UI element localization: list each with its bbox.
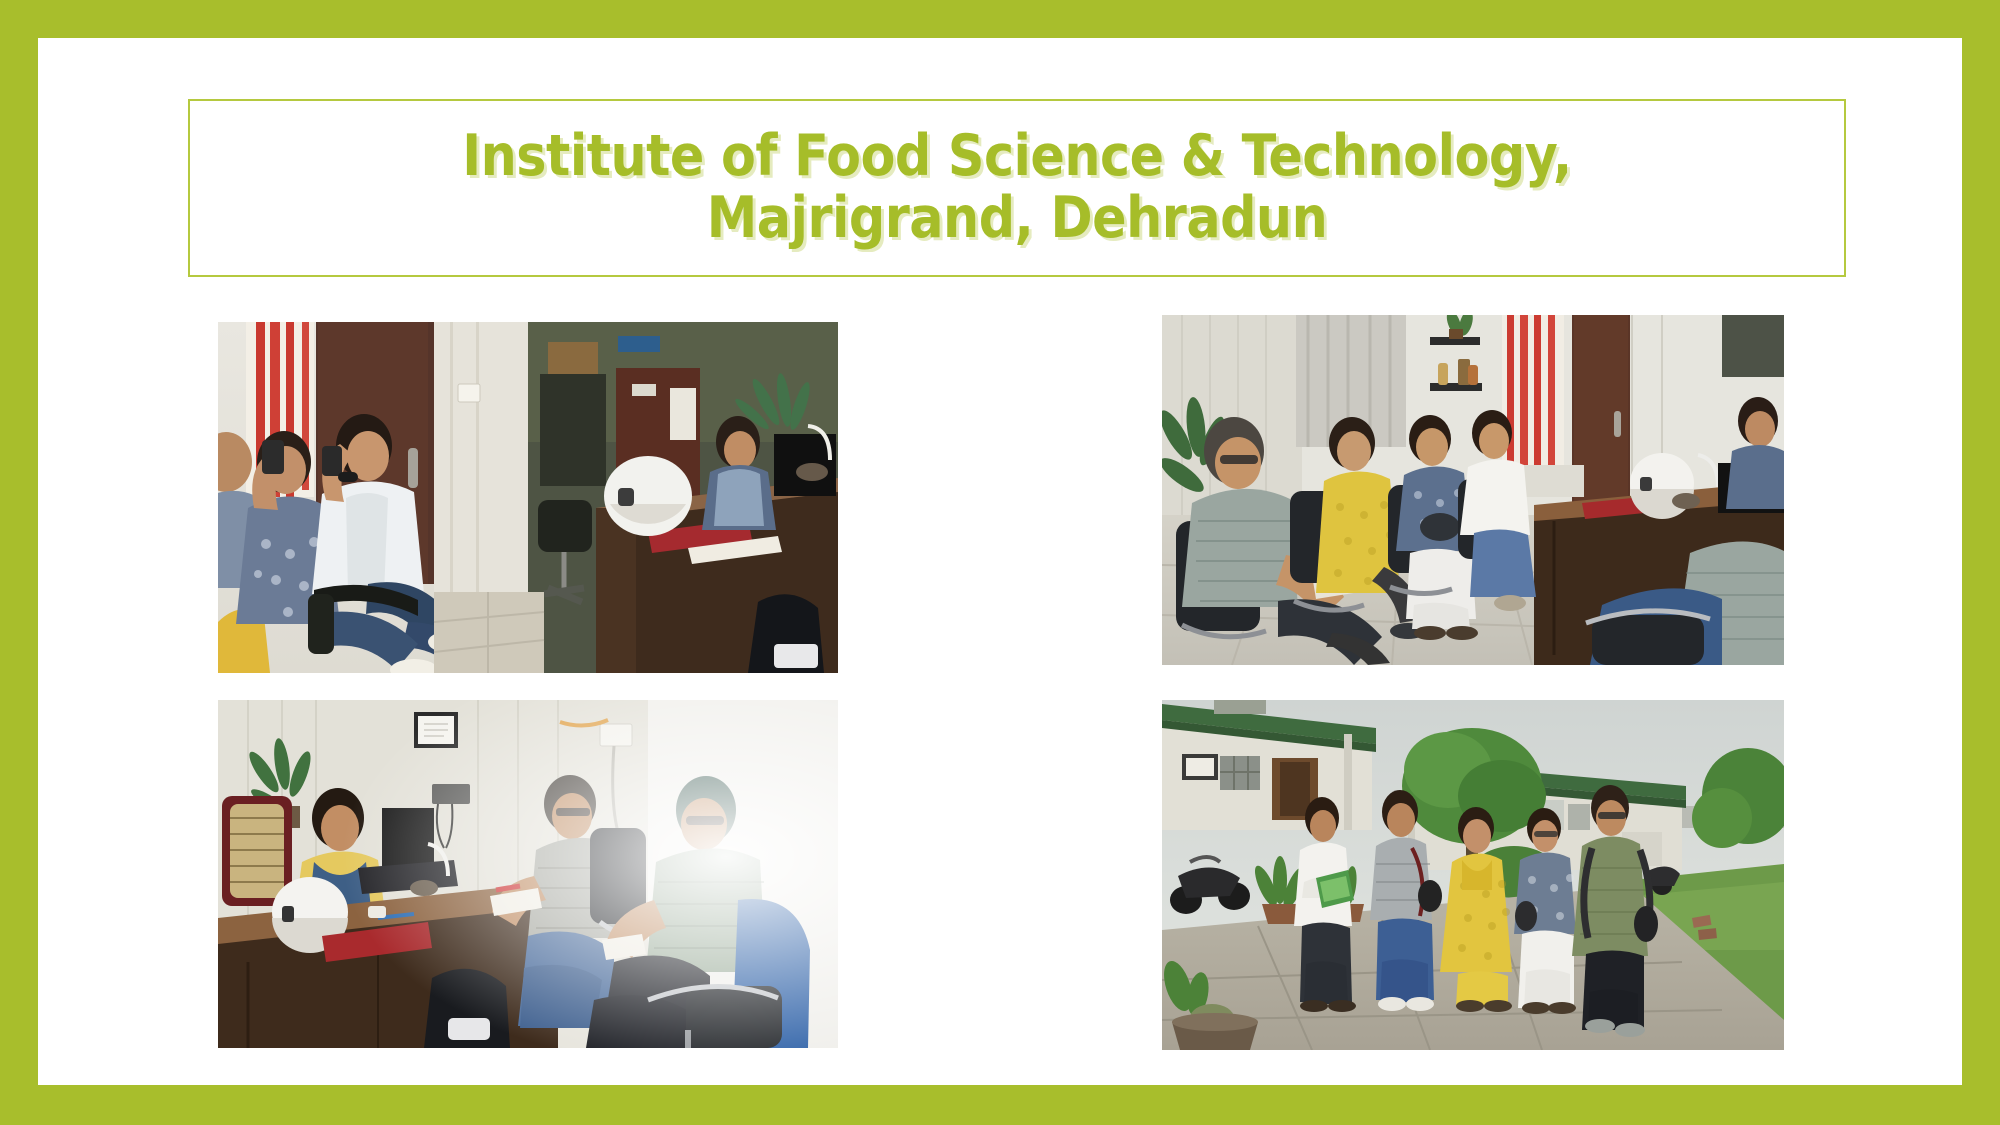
- page-title: Institute of Food Science & Technology, …: [198, 126, 1835, 249]
- slide-frame: Institute of Food Science & Technology, …: [0, 0, 2000, 1125]
- photo-office-visitors: [218, 322, 838, 673]
- photo-group-meeting: [1162, 315, 1784, 665]
- photo-1-illustration: [218, 322, 838, 673]
- photo-desk-discussion: [218, 700, 838, 1048]
- photo-4-illustration: [1162, 700, 1784, 1050]
- photo-group-outside-building: [1162, 700, 1784, 1050]
- photo-3-illustration: [218, 700, 838, 1048]
- photo-2-illustration: [1162, 315, 1784, 665]
- slide-canvas: Institute of Food Science & Technology, …: [38, 38, 1962, 1085]
- title-box: Institute of Food Science & Technology, …: [188, 99, 1846, 277]
- title-line-1: Institute of Food Science & Technology,: [204, 126, 1830, 188]
- title-line-2: Majrigrand, Dehradun: [204, 188, 1830, 250]
